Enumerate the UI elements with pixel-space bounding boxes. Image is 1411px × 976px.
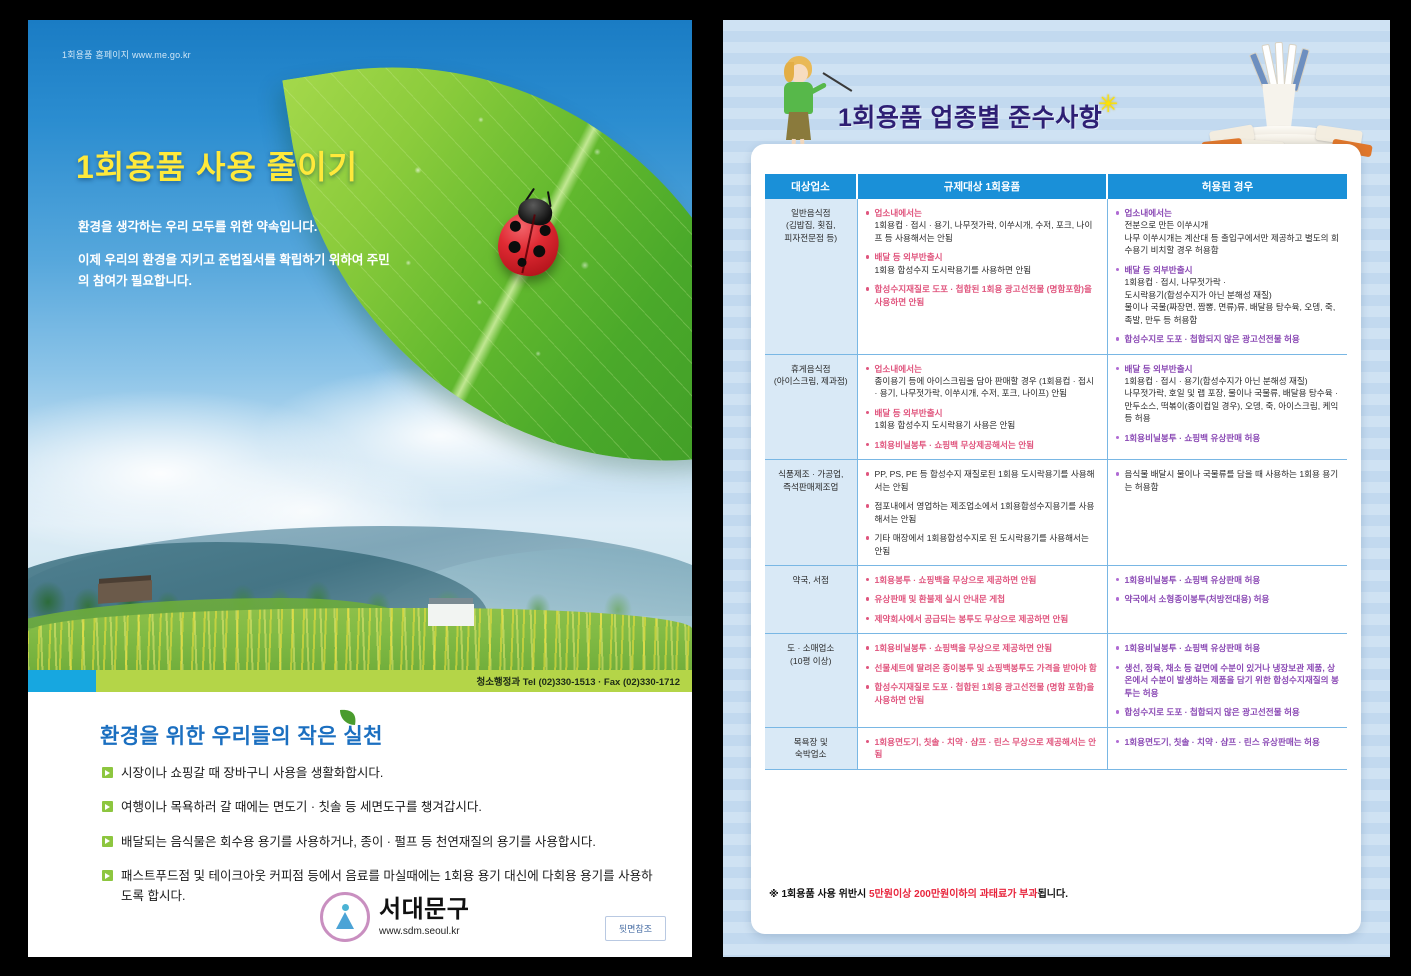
column-header-allowed: 허용된 경우 xyxy=(1107,174,1347,199)
table-row: 식품제조 · 가공업,즉석판매제조업PP, PS, PE 등 합성수지 재질로된… xyxy=(765,460,1347,566)
bullet-heading: 생선, 정육, 채소 등 겉면에 수분이 있거나 냉장보관 제품, 상온에서 수… xyxy=(1125,662,1340,699)
practices-section: 환경을 위한 우리들의 작은 실천 시장이나 쇼핑갈 때 장바구니 사용을 생활… xyxy=(28,692,692,957)
bullet-heading: 업소내에서는 xyxy=(875,207,1099,219)
table-row: 도 · 소매업소(10평 이상)1회용비닐봉투 · 쇼핑백을 무상으로 제공하면… xyxy=(765,634,1347,727)
bullet-item: 합성수지로 도포 · 첩합되지 않은 광고선전물 허용 xyxy=(1116,706,1340,718)
cell-banned: 업소내에서는1회용컵 · 접시 · 용기, 나무젓가락, 이쑤시개, 수저, 포… xyxy=(857,199,1107,354)
penalty-footnote: ※ 1회용품 사용 위반시 5만원이상 200만원이하의 과태료가 부과됩니다. xyxy=(769,885,1068,900)
list-item: 배달되는 음식물은 회수용 용기를 사용하거나, 종이 · 펄프 등 천연재질의… xyxy=(102,833,662,852)
bullet-heading: 1회용봉투 · 쇼핑백을 무상으로 제공하면 안됨 xyxy=(875,574,1099,586)
bullet-heading: 약국에서 소형종이봉투(처방전대용) 허용 xyxy=(1125,593,1340,605)
table-row: 목욕장 및숙박업소1회용면도기, 칫솔 · 치약 · 샴프 · 린스 무상으로 … xyxy=(765,727,1347,769)
bullet-heading: 1회용비닐봉투 · 쇼핑백 유상판매 허용 xyxy=(1125,432,1340,444)
bullet-item: 배달 등 외부반출시1회용 합성수지 도시락용기를 사용하면 안됨 xyxy=(866,251,1099,276)
bullet-heading: 합성수지로 도포 · 첩합되지 않은 광고선전물 허용 xyxy=(1125,706,1340,718)
bullet-body: 음식물 배달시 물이나 국물류를 담을 때 사용하는 1회용 용기는 허용함 xyxy=(1125,468,1340,493)
bullet-heading: 1회용면도기, 칫솔 · 치약 · 샴프 · 린스 유상판매는 허용 xyxy=(1125,736,1340,748)
bullet-heading: 배달 등 외부반출시 xyxy=(875,251,1099,263)
cell-business: 식품제조 · 가공업,즉석판매제조업 xyxy=(765,460,857,566)
page-title: 1회용품 업종별 준수사항 xyxy=(838,98,1102,134)
bullet-heading: 유상판매 및 환불제 실시 안내문 게첩 xyxy=(875,593,1099,605)
footnote-prefix: ※ 1회용품 사용 위반시 xyxy=(769,889,869,900)
left-page-brochure: 1회용품 홈페이지 www.me.go.kr 1회용품 사용 줄이기 환경을 생… xyxy=(28,20,692,957)
bullet-item: 약국에서 소형종이봉투(처방전대용) 허용 xyxy=(1116,593,1340,605)
bullet-item: 1회용봉투 · 쇼핑백을 무상으로 제공하면 안됨 xyxy=(866,574,1099,586)
cell-business: 도 · 소매업소(10평 이상) xyxy=(765,634,857,727)
bullet-item: PP, PS, PE 등 합성수지 재질로된 1회용 도시락용기를 사용해서는 … xyxy=(866,468,1099,493)
bullet-body: 기타 매장에서 1회용합성수지로 된 도시락용기를 사용해서는 안됨 xyxy=(875,532,1099,557)
bullet-heading: 합성수지재질로 도포 · 첩합된 1회용 광고선전물 (명함포함)을 사용하면 … xyxy=(875,283,1099,308)
bullet-item: 1회용비닐봉투 · 쇼핑백을 무상으로 제공하면 안됨 xyxy=(866,642,1099,654)
district-name: 서대문구 xyxy=(379,898,469,922)
compliance-table: 대상업소 규제대상 1회용품 허용된 경우 일반음식점(김밥집, 횟집,피자전문… xyxy=(765,174,1347,770)
bullet-heading: 합성수지로 도포 · 첩합되지 않은 광고선전물 허용 xyxy=(1125,333,1340,345)
cell-banned: 업소내에서는종이용기 등에 아이스크림을 담아 판매할 경우 (1회용컵 · 접… xyxy=(857,354,1107,460)
arrow-bullet-icon xyxy=(102,836,113,847)
cell-allowed: 1회용비닐봉투 · 쇼핑백 유상판매 허용생선, 정육, 채소 등 겉면에 수분… xyxy=(1107,634,1347,727)
practice-text: 시장이나 쇼핑갈 때 장바구니 사용을 생활화합시다. xyxy=(121,764,383,783)
bullet-heading: 배달 등 외부반출시 xyxy=(1125,363,1340,375)
bullet-item: 합성수지로 도포 · 첩합되지 않은 광고선전물 허용 xyxy=(1116,333,1340,345)
arrow-bullet-icon xyxy=(102,801,113,812)
bullet-body: 1회용 합성수지 도시락용기를 사용하면 안됨 xyxy=(875,264,1099,276)
bullet-body: 1회용컵 · 접시 · 용기, 나무젓가락, 이쑤시개, 수저, 포크, 나이프… xyxy=(875,219,1099,244)
bullet-body: 종이용기 등에 아이스크림을 담아 판매할 경우 (1회용컵 · 접시 · 용기… xyxy=(875,375,1099,400)
practice-text: 여행이나 목욕하러 갈 때에는 면도기 · 칫솔 등 세면도구를 챙겨갑시다. xyxy=(121,798,482,817)
bullet-heading: 합성수지재질로 도포 · 첩합된 1회용 광고선전물 (명함 포함)을 사용하면… xyxy=(875,681,1099,706)
bullet-heading: 1회용면도기, 칫솔 · 치약 · 샴프 · 린스 무상으로 제공해서는 안됨 xyxy=(875,736,1099,761)
list-item: 여행이나 목욕하러 갈 때에는 면도기 · 칫솔 등 세면도구를 챙겨갑시다. xyxy=(102,798,662,817)
table-header-row: 대상업소 규제대상 1회용품 허용된 경우 xyxy=(765,174,1347,199)
bullet-heading: 1회용비닐봉투 · 쇼핑백 유상판매 허용 xyxy=(1125,642,1340,654)
cell-allowed: 1회용면도기, 칫솔 · 치약 · 샴프 · 린스 유상판매는 허용 xyxy=(1107,727,1347,769)
cell-allowed: 업소내에서는전분으로 만든 이쑤시개나무 이쑤시개는 계산대 등 출입구에서만 … xyxy=(1107,199,1347,354)
bullet-item: 제약회사에서 공급되는 봉투도 무상으로 제공하면 안됨 xyxy=(866,613,1099,625)
table-row: 약국, 서점1회용봉투 · 쇼핑백을 무상으로 제공하면 안됨유상판매 및 환불… xyxy=(765,565,1347,633)
bullet-item: 업소내에서는전분으로 만든 이쑤시개나무 이쑤시개는 계산대 등 출입구에서만 … xyxy=(1116,207,1340,257)
arrow-bullet-icon xyxy=(102,870,113,881)
bullet-item: 1회용면도기, 칫솔 · 치약 · 샴프 · 린스 유상판매는 허용 xyxy=(1116,736,1340,748)
seal-emblem-icon xyxy=(320,892,370,942)
teacher-skirt xyxy=(786,112,811,140)
cell-banned: PP, PS, PE 등 합성수지 재질로된 1회용 도시락용기를 사용해서는 … xyxy=(857,460,1107,566)
bullet-item: 합성수지재질로 도포 · 첩합된 1회용 광고선전물 (명함포함)을 사용하면 … xyxy=(866,283,1099,308)
pointer-stick-icon xyxy=(822,72,852,92)
bullet-body: PP, PS, PE 등 합성수지 재질로된 1회용 도시락용기를 사용해서는 … xyxy=(875,468,1099,493)
bullet-item: 합성수지재질로 도포 · 첩합된 1회용 광고선전물 (명함 포함)을 사용하면… xyxy=(866,681,1099,706)
cell-business: 약국, 서점 xyxy=(765,565,857,633)
bullet-heading: 업소내에서는 xyxy=(875,363,1099,375)
teacher-blouse xyxy=(784,82,813,114)
cell-allowed: 배달 등 외부반출시1회용컵 · 접시 · 용기(합성수지가 아닌 분해성 재질… xyxy=(1107,354,1347,460)
star-icon: ✳ xyxy=(1098,90,1118,119)
cell-allowed: 음식물 배달시 물이나 국물류를 담을 때 사용하는 1회용 용기는 허용함 xyxy=(1107,460,1347,566)
farmhouse-left xyxy=(98,580,152,604)
table-row: 휴게음식점(아이스크림, 제과점)업소내에서는종이용기 등에 아이스크림을 담아… xyxy=(765,354,1347,460)
bullet-item: 배달 등 외부반출시1회용 합성수지 도시락용기 사용은 안됨 xyxy=(866,407,1099,432)
cell-banned: 1회용비닐봉투 · 쇼핑백을 무상으로 제공하면 안됨선물세트에 딸려온 종이봉… xyxy=(857,634,1107,727)
bullet-item: 업소내에서는1회용컵 · 접시 · 용기, 나무젓가락, 이쑤시개, 수저, 포… xyxy=(866,207,1099,244)
bullet-item: 기타 매장에서 1회용합성수지로 된 도시락용기를 사용해서는 안됨 xyxy=(866,532,1099,557)
right-page-brochure: 1회용품 업종별 준수사항 ✳ 대상업소 규제대상 1회용품 허용된 경우 일반… xyxy=(723,20,1390,957)
contact-info: 청소행정과 Tel (02)330-1513 · Fax (02)330-171… xyxy=(476,674,680,688)
bullet-item: 1회용비닐봉투 · 쇼핑백 유상판매 허용 xyxy=(1116,574,1340,586)
bullet-item: 배달 등 외부반출시1회용컵 · 접시, 나무젓가락 ·도시락용기(합성수지가 … xyxy=(1116,264,1340,326)
teacher-hair-side xyxy=(784,62,794,82)
subtitle-primary: 환경을 생각하는 우리 모두를 위한 약속입니다. xyxy=(78,216,317,235)
practice-text: 배달되는 음식물은 회수용 용기를 사용하거나, 종이 · 펄프 등 천연재질의… xyxy=(121,833,596,852)
bullet-heading: 업소내에서는 xyxy=(1125,207,1340,219)
bullet-item: 선물세트에 딸려온 종이봉투 및 쇼핑백봉투도 가격을 받아야 함 xyxy=(866,662,1099,674)
bullet-item: 1회용비닐봉투 · 쇼핑백 무상제공해서는 안됨 xyxy=(866,439,1099,451)
back-reference-button[interactable]: 뒷면참조 xyxy=(605,916,666,941)
subtitle-secondary: 이제 우리의 환경을 지키고 준법질서를 확립하기 위하여 주민의 참여가 필요… xyxy=(78,250,398,291)
bullet-item: 1회용면도기, 칫솔 · 치약 · 샴프 · 린스 무상으로 제공해서는 안됨 xyxy=(866,736,1099,761)
landscape-photo xyxy=(28,520,692,682)
footnote-penalty-amount: 5만원이상 200만원이하의 과태료가 부과 xyxy=(869,889,1038,900)
paper-cup-icon xyxy=(1258,84,1300,130)
district-logo: 서대문구 www.sdm.seoul.kr xyxy=(320,892,469,942)
bullet-heading: 1회용비닐봉투 · 쇼핑백을 무상으로 제공하면 안됨 xyxy=(875,642,1099,654)
bullet-body: 1회용 합성수지 도시락용기 사용은 안됨 xyxy=(875,419,1099,431)
bullet-item: 음식물 배달시 물이나 국물류를 담을 때 사용하는 1회용 용기는 허용함 xyxy=(1116,468,1340,493)
cell-banned: 1회용면도기, 칫솔 · 치약 · 샴프 · 린스 무상으로 제공해서는 안됨 xyxy=(857,727,1107,769)
district-url: www.sdm.seoul.kr xyxy=(379,926,469,937)
list-item: 시장이나 쇼핑갈 때 장바구니 사용을 생활화합시다. xyxy=(102,764,662,783)
cell-business: 휴게음식점(아이스크림, 제과점) xyxy=(765,354,857,460)
leaf-sprout-icon xyxy=(338,708,358,728)
bullet-body: 점포내에서 영업하는 제조업소에서 1회용합성수지용기를 사용해서는 안됨 xyxy=(875,500,1099,525)
bullet-heading: 배달 등 외부반출시 xyxy=(1125,264,1340,276)
bullet-item: 점포내에서 영업하는 제조업소에서 1회용합성수지용기를 사용해서는 안됨 xyxy=(866,500,1099,525)
bullet-item: 업소내에서는종이용기 등에 아이스크림을 담아 판매할 경우 (1회용컵 · 접… xyxy=(866,363,1099,400)
footnote-suffix: 됩니다. xyxy=(1038,889,1068,900)
strip-blue-block xyxy=(28,670,96,692)
cell-banned: 1회용봉투 · 쇼핑백을 무상으로 제공하면 안됨유상판매 및 환불제 실시 안… xyxy=(857,565,1107,633)
bullet-heading: 1회용비닐봉투 · 쇼핑백 유상판매 허용 xyxy=(1125,574,1340,586)
contact-strip: 청소행정과 Tel (02)330-1513 · Fax (02)330-171… xyxy=(28,670,692,692)
bullet-body: 1회용컵 · 접시, 나무젓가락 ·도시락용기(합성수지가 아닌 분해성 재질)… xyxy=(1125,276,1340,326)
table-body: 일반음식점(김밥집, 횟집,피자전문점 등)업소내에서는1회용컵 · 접시 · … xyxy=(765,199,1347,769)
bullet-body: 1회용컵 · 접시 · 용기(합성수지가 아닌 분해성 재질)나무젓가락, 호일… xyxy=(1125,375,1340,425)
column-header-banned: 규제대상 1회용품 xyxy=(857,174,1107,199)
bullet-body: 전분으로 만든 이쑤시개나무 이쑤시개는 계산대 등 출입구에서만 제공하고 별… xyxy=(1125,219,1340,256)
cell-allowed: 1회용비닐봉투 · 쇼핑백 유상판매 허용약국에서 소형종이봉투(처방전대용) … xyxy=(1107,565,1347,633)
bullet-item: 배달 등 외부반출시1회용컵 · 접시 · 용기(합성수지가 아닌 분해성 재질… xyxy=(1116,363,1340,425)
table-row: 일반음식점(김밥집, 횟집,피자전문점 등)업소내에서는1회용컵 · 접시 · … xyxy=(765,199,1347,354)
bullet-heading: 제약회사에서 공급되는 봉투도 무상으로 제공하면 안됨 xyxy=(875,613,1099,625)
bullet-item: 유상판매 및 환불제 실시 안내문 게첩 xyxy=(866,593,1099,605)
bullet-heading: 선물세트에 딸려온 종이봉투 및 쇼핑백봉투도 가격을 받아야 함 xyxy=(875,662,1099,674)
arrow-bullet-icon xyxy=(102,767,113,778)
bullet-item: 생선, 정육, 채소 등 겉면에 수분이 있거나 냉장보관 제품, 상온에서 수… xyxy=(1116,662,1340,699)
cell-business: 일반음식점(김밥집, 횟집,피자전문점 등) xyxy=(765,199,857,354)
homepage-label: 1회용품 홈페이지 www.me.go.kr xyxy=(62,48,191,61)
main-title: 1회용품 사용 줄이기 xyxy=(76,142,358,188)
bullet-item: 1회용비닐봉투 · 쇼핑백 유상판매 허용 xyxy=(1116,432,1340,444)
bullet-item: 1회용비닐봉투 · 쇼핑백 유상판매 허용 xyxy=(1116,642,1340,654)
bullet-heading: 배달 등 외부반출시 xyxy=(875,407,1099,419)
farmhouse-right xyxy=(428,604,474,626)
compliance-table-card: 대상업소 규제대상 1회용품 허용된 경우 일반음식점(김밥집, 횟집,피자전문… xyxy=(751,144,1361,934)
column-header-business: 대상업소 xyxy=(765,174,857,199)
bullet-heading: 1회용비닐봉투 · 쇼핑백 무상제공해서는 안됨 xyxy=(875,439,1099,451)
cell-business: 목욕장 및숙박업소 xyxy=(765,727,857,769)
